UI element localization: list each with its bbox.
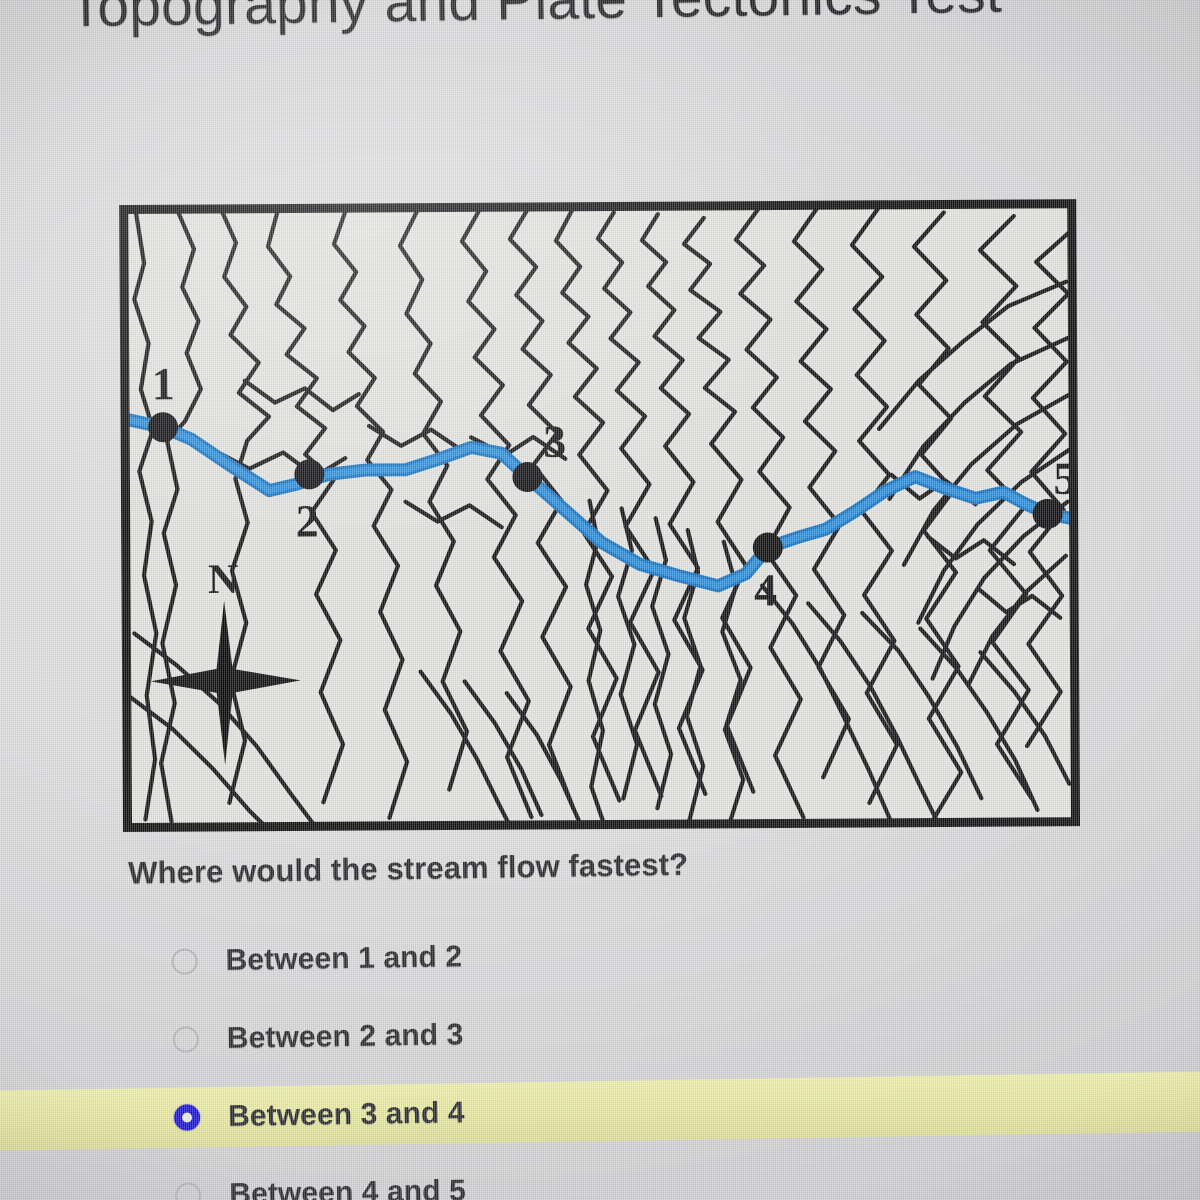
point-label-4: 4	[754, 565, 777, 616]
topographic-map-figure: 1 2 3 4 5 N	[118, 198, 1090, 840]
stream-point-2	[294, 459, 324, 489]
page-title: Topography and Plate Tectonics Test	[68, 0, 1149, 40]
point-label-3: 3	[543, 416, 566, 467]
radio-button-1[interactable]	[171, 948, 197, 974]
radio-button-3[interactable]	[174, 1104, 200, 1130]
stream-point-1	[148, 412, 178, 442]
test-page: Topography and Plate Tectonics Test	[0, 0, 1200, 1200]
answer-label-2: Between 2 and 3	[227, 1018, 464, 1056]
answer-label-4: Between 4 and 5	[229, 1174, 466, 1200]
point-label-5: 5	[1053, 453, 1076, 504]
radio-button-2[interactable]	[173, 1026, 199, 1052]
north-arrow-label: N	[208, 557, 239, 603]
answer-label-1: Between 1 and 2	[225, 940, 462, 978]
point-label-1: 1	[152, 358, 175, 409]
answer-options-list: Between 1 and 2 Between 2 and 3 Between …	[129, 907, 1184, 1200]
stream-point-3	[512, 462, 542, 492]
photographed-screen: Topography and Plate Tectonics Test	[0, 0, 1200, 1200]
answer-label-3: Between 3 and 4	[228, 1096, 465, 1134]
point-label-2: 2	[295, 495, 318, 546]
radio-button-4[interactable]	[175, 1182, 201, 1200]
question-text: Where would the stream flow fastest?	[128, 847, 688, 892]
stream-point-4	[753, 532, 783, 562]
